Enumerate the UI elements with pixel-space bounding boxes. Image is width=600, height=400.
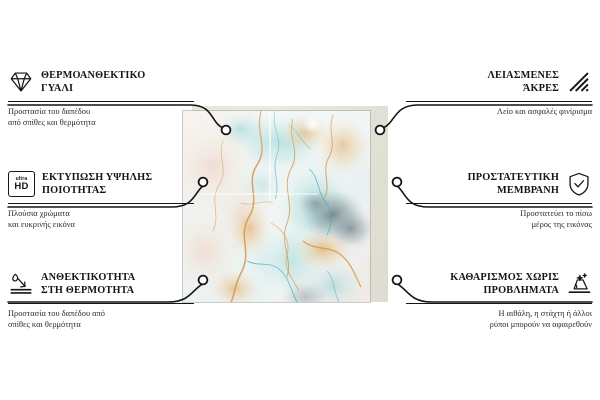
feature-title-line1: ΕΚΤΥΠΩΣΗ ΥΨΗΛΗΣ [42, 171, 152, 184]
glass-sparkle [301, 113, 323, 135]
feature-title-line1: ΛΕΙΑΣΜΕΝΕΣ [487, 69, 559, 82]
glass-reflection-vertical [269, 111, 271, 199]
feature-description: Προστασία του δαπέδου από σπίθες και θερ… [8, 106, 194, 128]
infographic-canvas: ΘΕΡΜΟΑΝΘΕΚΤΙΚΟ ΓΥΑΛΙ Προστασία του δαπέδ… [0, 0, 600, 400]
feature-desc-line1: Η αιθάλη, η στάχτη ή άλλοι [406, 308, 592, 319]
ultra-hd-icon-bottom-label: HD [14, 182, 28, 192]
feature-title-line2: ΠΡΟΒΛΗΜΑΤΑ [450, 284, 559, 297]
feature-desc-line1: Προστατεύει το πίσω [406, 208, 592, 219]
glass-reflection-horizontal [202, 193, 318, 195]
feature-title-line2: ΜΕΜΒΡΑΝΗ [468, 184, 559, 197]
feature-heat-durability: ΑΝΘΕΚΤΙΚΟΤΗΤΑ ΣΤΗ ΘΕΡΜΟΤΗΤΑ Προστασία το… [8, 268, 194, 330]
feature-desc-line1: Πλούσια χρώματα [8, 208, 194, 219]
feature-description: Προστασία του δαπέδου από σπίθες και θερ… [8, 308, 194, 330]
feature-header: ΚΑΘΑΡΙΣΜΟΣ ΧΩΡΙΣ ΠΡΟΒΛΗΜΑΤΑ [406, 268, 592, 300]
shield-check-icon [566, 171, 592, 197]
polished-edges-icon [566, 69, 592, 95]
feature-divider [406, 303, 592, 304]
feature-title: ΕΚΤΥΠΩΣΗ ΥΨΗΛΗΣ ΠΟΙΟΤΗΤΑΣ [42, 171, 152, 197]
feature-protective-membrane: ΠΡΟΣΤΑΤΕΥΤΙΚΗ ΜΕΜΒΡΑΝΗ Προστατεύει το πί… [406, 168, 592, 230]
feature-title: ΚΑΘΑΡΙΣΜΟΣ ΧΩΡΙΣ ΠΡΟΒΛΗΜΑΤΑ [450, 271, 559, 297]
abstract-ink-artwork [183, 111, 370, 302]
feature-divider [8, 203, 194, 204]
feature-header: ΛΕΙΑΣΜΕΝΕΣ ΆΚΡΕΣ [406, 66, 592, 98]
feature-description: Η αιθάλη, η στάχτη ή άλλοι ρύποι μπορούν… [406, 308, 592, 330]
feature-desc-line2: ρύποι μπορούν να αφαιρεθούν [406, 319, 592, 330]
feature-desc-line1: Λείο και ασφαλές φινίρισμα [406, 106, 592, 117]
feature-title: ΘΕΡΜΟΑΝΘΕΚΤΙΚΟ ΓΥΑΛΙ [41, 69, 145, 95]
feature-header: ΠΡΟΣΤΑΤΕΥΤΙΚΗ ΜΕΜΒΡΑΝΗ [406, 168, 592, 200]
feature-title: ΠΡΟΣΤΑΤΕΥΤΙΚΗ ΜΕΜΒΡΑΝΗ [468, 171, 559, 197]
feature-header: ultra HD ΕΚΤΥΠΩΣΗ ΥΨΗΛΗΣ ΠΟΙΟΤΗΤΑΣ [8, 168, 194, 200]
feature-divider [8, 303, 194, 304]
diamond-icon [8, 69, 34, 95]
feature-desc-line2: και ευκρινής εικόνα [8, 219, 194, 230]
feature-title-line1: ΚΑΘΑΡΙΣΜΟΣ ΧΩΡΙΣ [450, 271, 559, 284]
connector-dot-right-3 [393, 276, 402, 285]
feature-header: ΑΝΘΕΚΤΙΚΟΤΗΤΑ ΣΤΗ ΘΕΡΜΟΤΗΤΑ [8, 268, 194, 300]
feature-description: Πλούσια χρώματα και ευκρινής εικόνα [8, 208, 194, 230]
feature-title: ΑΝΘΕΚΤΙΚΟΤΗΤΑ ΣΤΗ ΘΕΡΜΟΤΗΤΑ [41, 271, 135, 297]
feature-description: Προστατεύει το πίσω μέρος της εικόνας [406, 208, 592, 230]
ultra-hd-icon: ultra HD [8, 171, 35, 197]
feature-title-line2: ΣΤΗ ΘΕΡΜΟΤΗΤΑ [41, 284, 135, 297]
product-image-group [183, 106, 388, 302]
flame-deflect-icon [8, 271, 34, 297]
easy-clean-icon [566, 271, 592, 297]
glass-splashback [183, 111, 370, 302]
feature-title-line1: ΑΝΘΕΚΤΙΚΟΤΗΤΑ [41, 271, 135, 284]
connector-dot-right-2 [393, 178, 402, 187]
feature-title: ΛΕΙΑΣΜΕΝΕΣ ΆΚΡΕΣ [487, 69, 559, 95]
feature-header: ΘΕΡΜΟΑΝΘΕΚΤΙΚΟ ΓΥΑΛΙ [8, 66, 194, 98]
feature-desc-line2: σπίθες και θερμότητα [8, 319, 194, 330]
feature-heat-resistant-glass: ΘΕΡΜΟΑΝΘΕΚΤΙΚΟ ΓΥΑΛΙ Προστασία του δαπέδ… [8, 66, 194, 128]
feature-desc-line1: Προστασία του δαπέδου από [8, 308, 194, 319]
feature-easy-cleaning: ΚΑΘΑΡΙΣΜΟΣ ΧΩΡΙΣ ΠΡΟΒΛΗΜΑΤΑ Η αιθάλη, η … [406, 268, 592, 330]
feature-description: Λείο και ασφαλές φινίρισμα [406, 106, 592, 117]
feature-desc-line2: μέρος της εικόνας [406, 219, 592, 230]
feature-desc-line1: Προστασία του δαπέδου [8, 106, 194, 117]
feature-high-quality-print: ultra HD ΕΚΤΥΠΩΣΗ ΥΨΗΛΗΣ ΠΟΙΟΤΗΤΑΣ Πλούσ… [8, 168, 194, 230]
feature-desc-line2: από σπίθες και θερμότητα [8, 117, 194, 128]
feature-title-line1: ΠΡΟΣΤΑΤΕΥΤΙΚΗ [468, 171, 559, 184]
feature-title-line1: ΘΕΡΜΟΑΝΘΕΚΤΙΚΟ [41, 69, 145, 82]
feature-divider [406, 203, 592, 204]
feature-title-line2: ΆΚΡΕΣ [487, 82, 559, 95]
feature-title-line2: ΓΥΑΛΙ [41, 82, 145, 95]
feature-polished-edges: ΛΕΙΑΣΜΕΝΕΣ ΆΚΡΕΣ Λείο και ασφαλές φινίρι… [406, 66, 592, 117]
feature-divider [406, 101, 592, 102]
feature-title-line2: ΠΟΙΟΤΗΤΑΣ [42, 184, 152, 197]
feature-divider [8, 101, 194, 102]
